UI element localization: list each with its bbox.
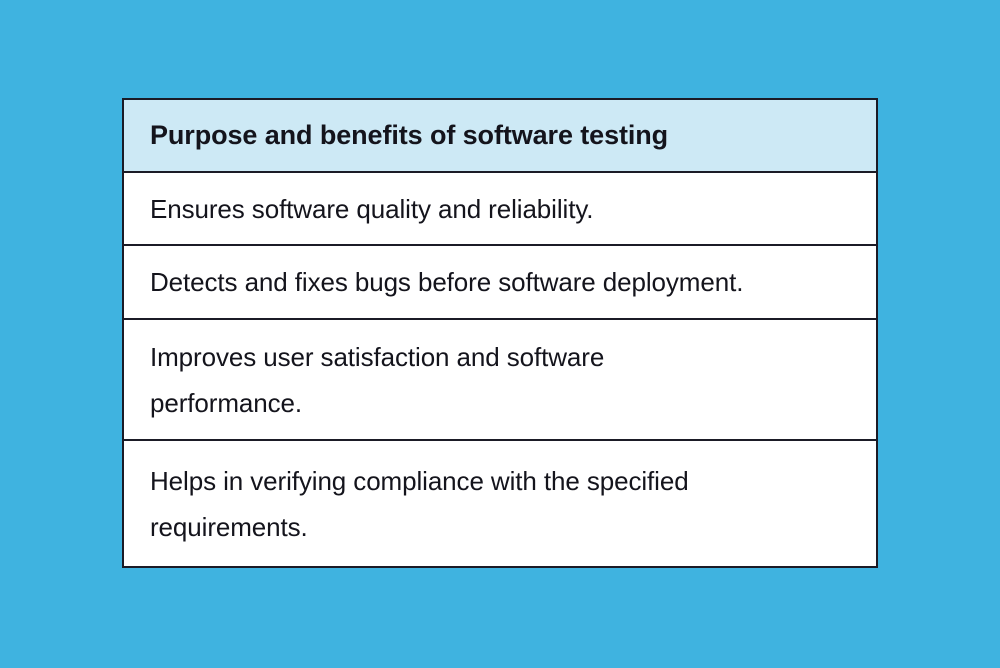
table-row: Detects and fixes bugs before software d… — [124, 246, 876, 320]
table-cell-label: Ensures software quality and reliability… — [150, 186, 593, 232]
table-cell-label: Detects and fixes bugs before software d… — [150, 259, 743, 305]
page-background: Purpose and benefits of software testing… — [0, 0, 1000, 668]
table-row: Helps in verifying compliance with the s… — [124, 441, 876, 566]
table-cell-label: Helps in verifying compliance with the s… — [150, 458, 750, 550]
table-row: Improves user satisfaction and software … — [124, 320, 876, 441]
table-row: Ensures software quality and reliability… — [124, 173, 876, 245]
benefits-table: Purpose and benefits of software testing… — [122, 98, 878, 568]
table-cell-label: Improves user satisfaction and software … — [150, 334, 750, 426]
table-header-label: Purpose and benefits of software testing — [150, 119, 668, 151]
table-header-row: Purpose and benefits of software testing — [124, 100, 876, 173]
